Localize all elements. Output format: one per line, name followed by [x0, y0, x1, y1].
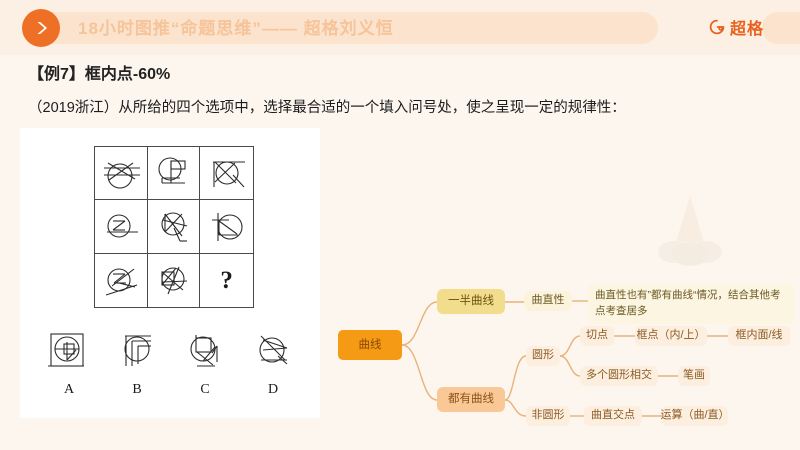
matrix-cell-3 — [200, 147, 253, 200]
mindmap-node-root[interactable]: 曲线 — [338, 330, 402, 360]
puzzle-matrix: ? — [94, 146, 254, 308]
option-a[interactable]: A — [38, 326, 100, 398]
mindmap-node-feiyuanxing[interactable]: 非圆形 — [526, 406, 570, 426]
slide-page: 18小时图推“命题思维”—— 超格刘义恒 超格 【例7】框内点-60% （201… — [0, 0, 800, 450]
matrix-cell-9: ? — [200, 254, 253, 307]
mindmap-node-quzhixing[interactable]: 曲直性 — [524, 291, 572, 311]
mindmap-node-duoge-yuanxing-xiangjiao[interactable]: 多个圆形相交 — [580, 366, 658, 386]
header-bar: 18小时图推“命题思维”—— 超格刘义恒 超格 — [0, 0, 800, 55]
matrix-cell-8 — [148, 254, 201, 307]
matrix-cell-7 — [95, 254, 148, 307]
g-circle-logo-icon — [709, 19, 725, 35]
option-c[interactable]: C — [174, 326, 236, 398]
mindmap-node-kuangdian[interactable]: 框点（内/上） — [635, 326, 707, 346]
matrix-cell-4 — [95, 200, 148, 253]
brand-logo-text: 超格 — [730, 15, 764, 39]
option-b-label: B — [132, 382, 141, 398]
option-c-label: C — [200, 382, 209, 398]
mindmap-node-yunsuan[interactable]: 运算（曲/直） — [662, 406, 728, 426]
option-c-figure — [179, 326, 231, 380]
options-row: A B — [38, 326, 304, 406]
background-watermark — [630, 190, 750, 270]
example-label: 【例7】框内点-60% — [28, 60, 170, 84]
matrix-cell-6 — [200, 200, 253, 253]
mindmap-node-description[interactable]: 曲直性也有”都有曲线“情况，结合其他考点考查居多 — [588, 284, 794, 324]
mindmap-node-yuanxing[interactable]: 圆形 — [526, 346, 560, 366]
option-d-figure — [247, 326, 299, 380]
brand-logo: 超格 — [709, 15, 764, 39]
matrix-cell-1 — [95, 147, 148, 200]
option-a-label: A — [64, 382, 74, 398]
question-mark: ? — [220, 268, 233, 293]
header-title: 18小时图推“命题思维”—— 超格刘义恒 — [78, 14, 394, 39]
header-pill-right — [762, 12, 800, 44]
mindmap-node-all-curve[interactable]: 都有曲线 — [437, 387, 505, 412]
mindmap-node-qiedian[interactable]: 切点 — [580, 326, 614, 346]
option-a-figure — [43, 326, 95, 380]
chevron-right-icon — [22, 9, 60, 47]
mindmap: 曲线 一半曲线 都有曲线 曲直性 曲直性也有”都有曲线“情况，结合其他考点考查居… — [330, 282, 800, 450]
mindmap-node-kuangneimian[interactable]: 框内面/线 — [728, 326, 790, 346]
option-d[interactable]: D — [242, 326, 304, 398]
mindmap-node-quzhijiaodian[interactable]: 曲直交点 — [584, 406, 642, 426]
question-text: （2019浙江）从所给的四个选项中，选择最合适的一个填入问号处，使之呈现一定的规… — [28, 96, 626, 117]
option-d-label: D — [268, 382, 278, 398]
option-b[interactable]: B — [106, 326, 168, 398]
mindmap-node-bihua[interactable]: 笔画 — [678, 366, 710, 386]
mindmap-node-half-curve[interactable]: 一半曲线 — [437, 289, 505, 314]
option-b-figure — [111, 326, 163, 380]
puzzle-panel: ? A — [20, 128, 320, 418]
matrix-cell-5 — [148, 200, 201, 253]
matrix-cell-2 — [148, 147, 201, 200]
